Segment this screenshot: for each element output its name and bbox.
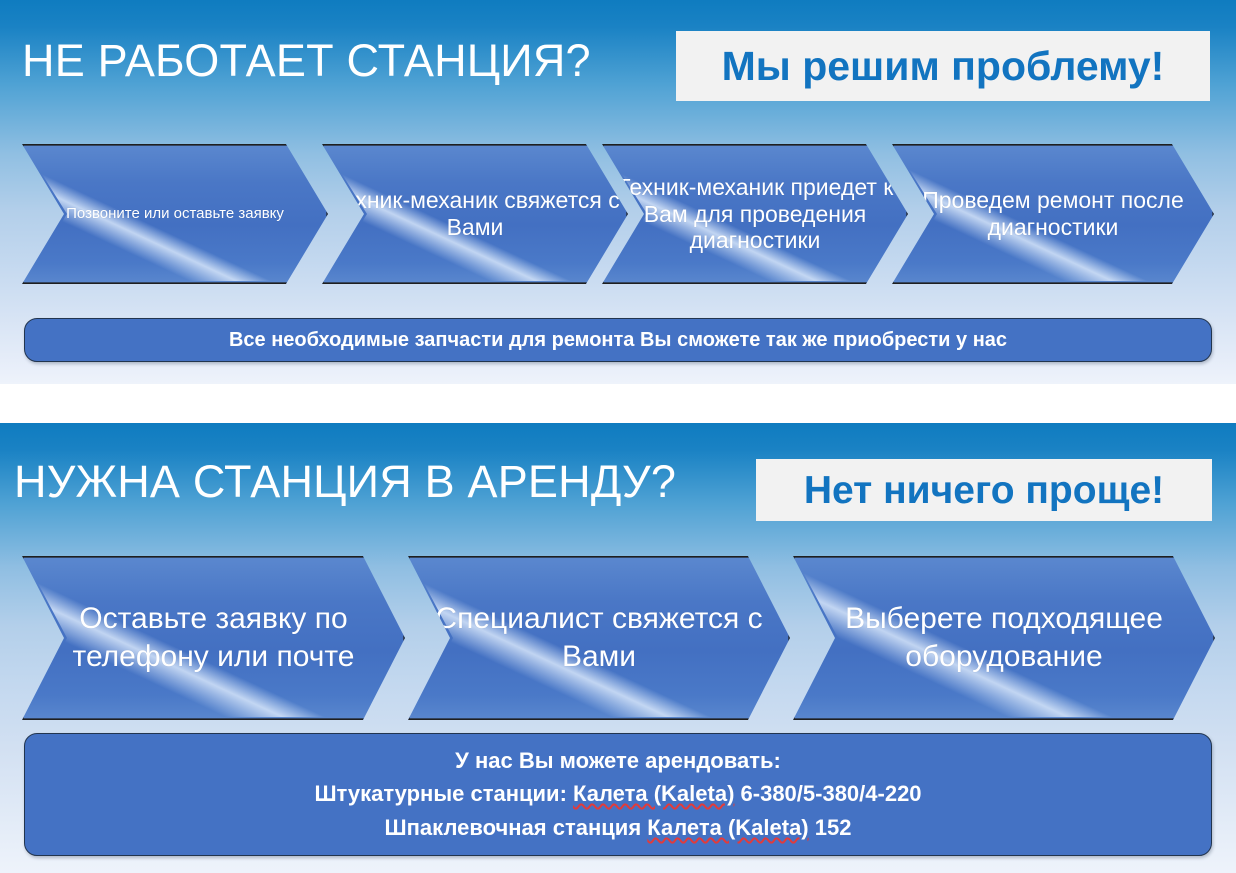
infographic-page: НЕ РАБОТАЕТ СТАНЦИЯ? Мы решим проблему! … — [0, 0, 1236, 873]
step-chevron-4[interactable]: Проведем ремонт после диагностики — [892, 144, 1214, 284]
rent-step-chevron-2-label: Специалист свяжется с Вами — [408, 600, 790, 677]
rent-footer-line-2: Штукатурные станции: Калета (Kaleta) 6-3… — [314, 780, 921, 809]
rent-footer-line-3: Шпаклевочная станция Калета (Kaleta) 152 — [385, 814, 852, 843]
rent-footer-line-1: У нас Вы можете арендовать: — [455, 747, 781, 776]
rent-step-chevron-3[interactable]: Выберете подходящее оборудование — [793, 556, 1215, 720]
section-repair-footer-text: Все необходимые запчасти для ремонта Вы … — [229, 329, 1007, 352]
step-chevron-3[interactable]: Техник-механик приедет к Вам для проведе… — [602, 144, 908, 284]
rent-footer-line-3-suffix: 152 — [809, 815, 852, 840]
section-repair-step-row: Позвоните или оставьте заявку Техник-мех… — [0, 144, 1236, 284]
rent-footer-line-2-suffix: 6-380/5-380/4-220 — [734, 781, 921, 806]
section-repair-headline: НЕ РАБОТАЕТ СТАНЦИЯ? — [22, 38, 591, 83]
section-repair-footer-box: Все необходимые запчасти для ремонта Вы … — [24, 318, 1212, 362]
section-repair-callout: Мы решим проблему! — [676, 31, 1210, 101]
rent-footer-line-3-prefix: Шпаклевочная станция — [385, 815, 648, 840]
section-rent-footer-box: У нас Вы можете арендовать: Штукатурные … — [24, 733, 1212, 856]
rent-step-chevron-3-label: Выберете подходящее оборудование — [793, 600, 1215, 677]
step-chevron-2[interactable]: Техник-механик свяжется с Вами — [322, 144, 628, 284]
step-chevron-2-label: Техник-механик свяжется с Вами — [322, 187, 628, 240]
step-chevron-3-label: Техник-механик приедет к Вам для проведе… — [602, 174, 908, 254]
rent-footer-line-2-prefix: Штукатурные станции: — [314, 781, 573, 806]
rent-footer-line-3-brand: Калета (Kaleta) — [647, 815, 808, 840]
section-rent-panel: НУЖНА СТАНЦИЯ В АРЕНДУ? Нет ничего проще… — [0, 423, 1236, 873]
step-chevron-1[interactable]: Позвоните или оставьте заявку — [22, 144, 328, 284]
rent-step-chevron-1[interactable]: Оставьте заявку по телефону или почте — [22, 556, 405, 720]
section-rent-step-row: Оставьте заявку по телефону или почте Сп… — [0, 556, 1236, 720]
rent-footer-line-2-brand: Калета (Kaleta) — [573, 781, 734, 806]
section-rent-callout: Нет ничего проще! — [756, 459, 1212, 521]
rent-step-chevron-2[interactable]: Специалист свяжется с Вами — [408, 556, 790, 720]
section-rent-headline: НУЖНА СТАНЦИЯ В АРЕНДУ? — [14, 459, 676, 504]
section-repair-panel: НЕ РАБОТАЕТ СТАНЦИЯ? Мы решим проблему! … — [0, 0, 1236, 384]
step-chevron-4-label: Проведем ремонт после диагностики — [892, 187, 1214, 240]
step-chevron-1-label: Позвоните или оставьте заявку — [60, 203, 290, 226]
section-repair-headline-row: НЕ РАБОТАЕТ СТАНЦИЯ? — [22, 38, 591, 83]
rent-step-chevron-1-label: Оставьте заявку по телефону или почте — [22, 600, 405, 677]
section-rent-headline-row: НУЖНА СТАНЦИЯ В АРЕНДУ? — [14, 459, 676, 504]
